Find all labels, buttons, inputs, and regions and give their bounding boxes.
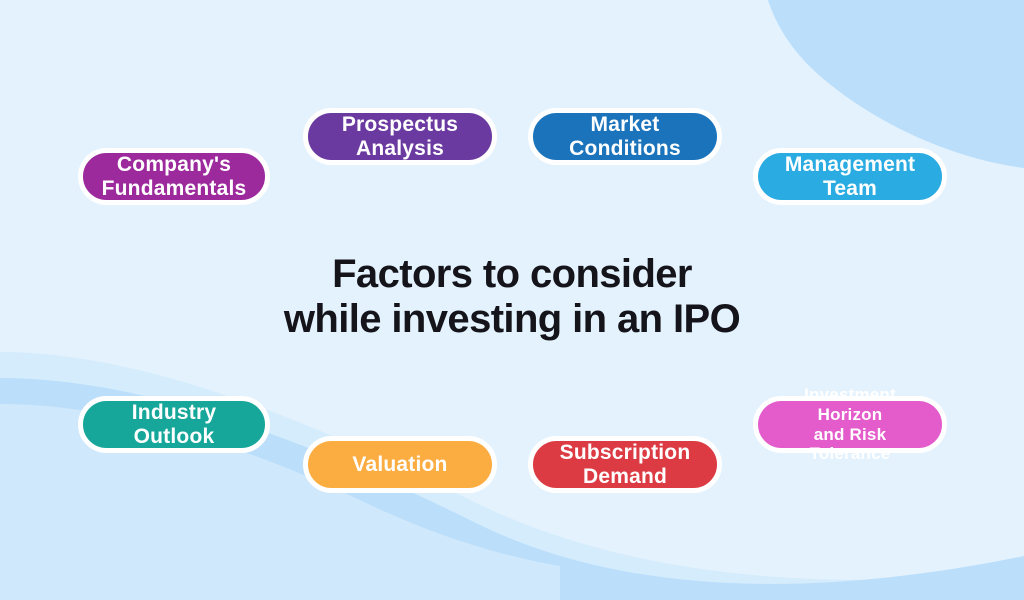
- wave-top-right: [768, 0, 1024, 168]
- infographic-title: Factors to consider while investing in a…: [0, 252, 1024, 342]
- factor-pill-prospectus-analysis[interactable]: Prospectus Analysis: [303, 108, 497, 165]
- factor-pill-label: Valuation: [322, 453, 478, 477]
- factor-pill-label: Management Team: [772, 153, 928, 200]
- factor-pill-label: Subscription Demand: [547, 441, 703, 488]
- factor-pill-label: Prospectus Analysis: [322, 113, 478, 160]
- factor-pill-valuation[interactable]: Valuation: [303, 436, 497, 493]
- factor-pill-management-team[interactable]: Management Team: [753, 148, 947, 205]
- infographic-canvas: Company's Fundamentals Prospectus Analys…: [0, 0, 1024, 600]
- factor-pill-market-conditions[interactable]: Market Conditions: [528, 108, 722, 165]
- factor-pill-companys-fundamentals[interactable]: Company's Fundamentals: [78, 148, 270, 205]
- factor-pill-subscription-demand[interactable]: Subscription Demand: [528, 436, 722, 493]
- factor-pill-label: Market Conditions: [547, 113, 703, 160]
- factor-pill-label: Investment Horizon and Risk Tolerance: [772, 385, 928, 463]
- factor-pill-investment-horizon[interactable]: Investment Horizon and Risk Tolerance: [753, 396, 947, 453]
- factor-pill-label: Industry Outlook: [97, 401, 251, 448]
- factor-pill-label: Company's Fundamentals: [97, 153, 251, 200]
- factor-pill-industry-outlook[interactable]: Industry Outlook: [78, 396, 270, 453]
